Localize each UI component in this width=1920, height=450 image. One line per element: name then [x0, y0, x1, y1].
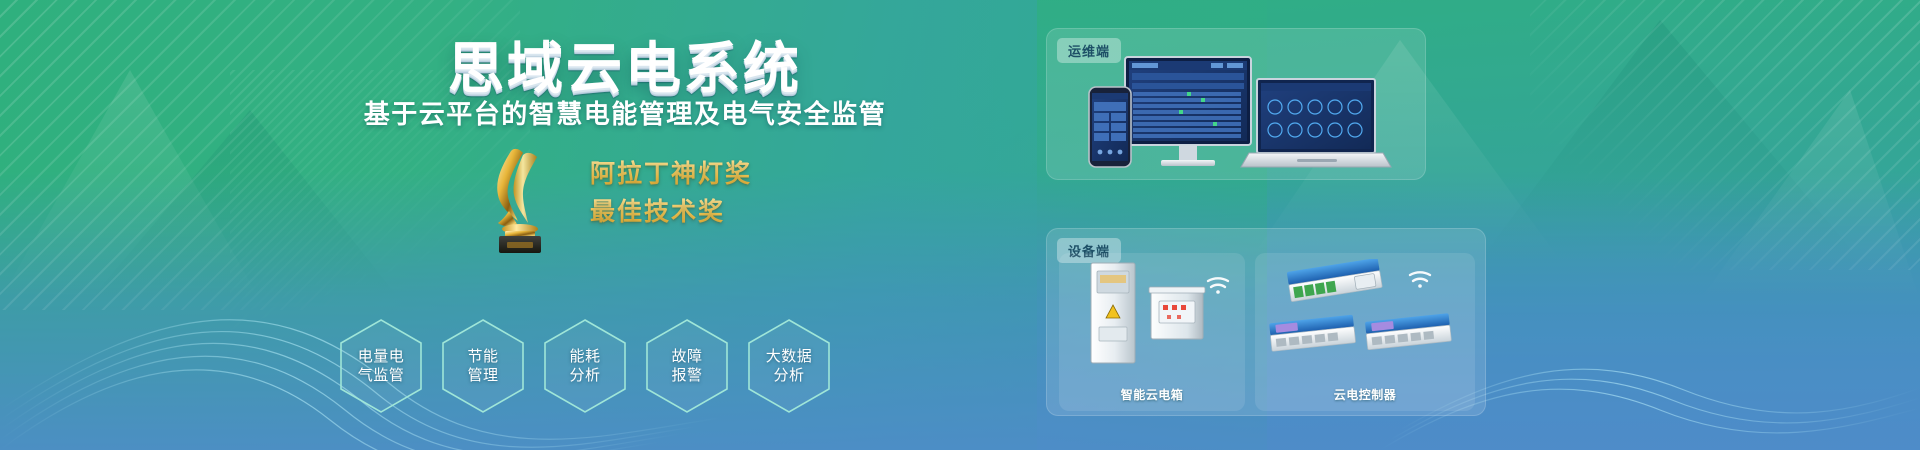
controller-unit-left [1269, 315, 1355, 352]
smartphone-mockup [1089, 87, 1131, 167]
feature-badge-label: 故障 报警 [644, 318, 730, 414]
device-item-cabinet[interactable]: 智能云电箱 [1059, 253, 1245, 411]
device-caption-cabinet: 智能云电箱 [1059, 386, 1245, 403]
feature-badge-4[interactable]: 大数据 分析 [746, 318, 832, 414]
feature-badge-line2: 分析 [569, 366, 600, 385]
feature-badge-1[interactable]: 节能 管理 [440, 318, 526, 414]
trophy-icon [465, 145, 575, 255]
controller-unit-top [1287, 259, 1383, 302]
ops-terminal-panel: 运维端 [1046, 28, 1426, 180]
award-line-2: 最佳技术奖 [590, 193, 752, 231]
award-section: 阿拉丁神灯奖 最佳技术奖 [430, 145, 900, 255]
wifi-icon [1208, 278, 1228, 293]
feature-badge-label: 大数据 分析 [746, 318, 832, 414]
controller-unit-right [1365, 313, 1451, 350]
wifi-icon [1410, 272, 1430, 287]
feature-badge-line1: 能耗 [569, 347, 600, 366]
feature-badge-line2: 报警 [671, 366, 702, 385]
page-subtitle: 基于云平台的智慧电能管理及电气安全监管 [100, 94, 1150, 131]
page-title: 思域云电系统 [100, 24, 1150, 105]
cloud-power-cabinet-icon [1073, 261, 1233, 369]
feature-badge-line2: 管理 [467, 366, 498, 385]
feature-badge-line2: 分析 [773, 366, 804, 385]
feature-badge-0[interactable]: 电量电 气监管 [338, 318, 424, 414]
laptop-mockup [1241, 79, 1391, 167]
feature-badge-line1: 故障 [671, 347, 702, 366]
desktop-monitor-mockup [1125, 57, 1251, 166]
device-caption-controller: 云电控制器 [1255, 386, 1475, 403]
feature-badge-line1: 节能 [467, 347, 498, 366]
feature-badge-3[interactable]: 故障 报警 [644, 318, 730, 414]
banner-root: 思域云电系统 基于云平台的智慧电能管理及电气安全监管 [0, 0, 1920, 450]
feature-badge-line2: 气监管 [358, 366, 405, 385]
ops-device-mockups [1061, 55, 1413, 177]
award-line-1: 阿拉丁神灯奖 [590, 155, 752, 193]
feature-badge-label: 电量电 气监管 [338, 318, 424, 414]
feature-badge-line1: 电量电 [358, 347, 405, 366]
left-content: 思域云电系统 基于云平台的智慧电能管理及电气安全监管 [0, 0, 1050, 450]
feature-badge-label: 节能 管理 [440, 318, 526, 414]
feature-badge-label: 能耗 分析 [542, 318, 628, 414]
device-terminal-panel: 设备端 [1046, 228, 1486, 416]
feature-badge-2[interactable]: 能耗 分析 [542, 318, 628, 414]
award-text-block: 阿拉丁神灯奖 最佳技术奖 [590, 155, 752, 231]
device-item-controller[interactable]: 云电控制器 [1255, 253, 1475, 411]
cloud-power-controller-icon [1263, 259, 1469, 371]
feature-badge-line1: 大数据 [766, 347, 813, 366]
feature-badge-row: 电量电 气监管 节能 管理 能耗 分析 [338, 318, 832, 414]
